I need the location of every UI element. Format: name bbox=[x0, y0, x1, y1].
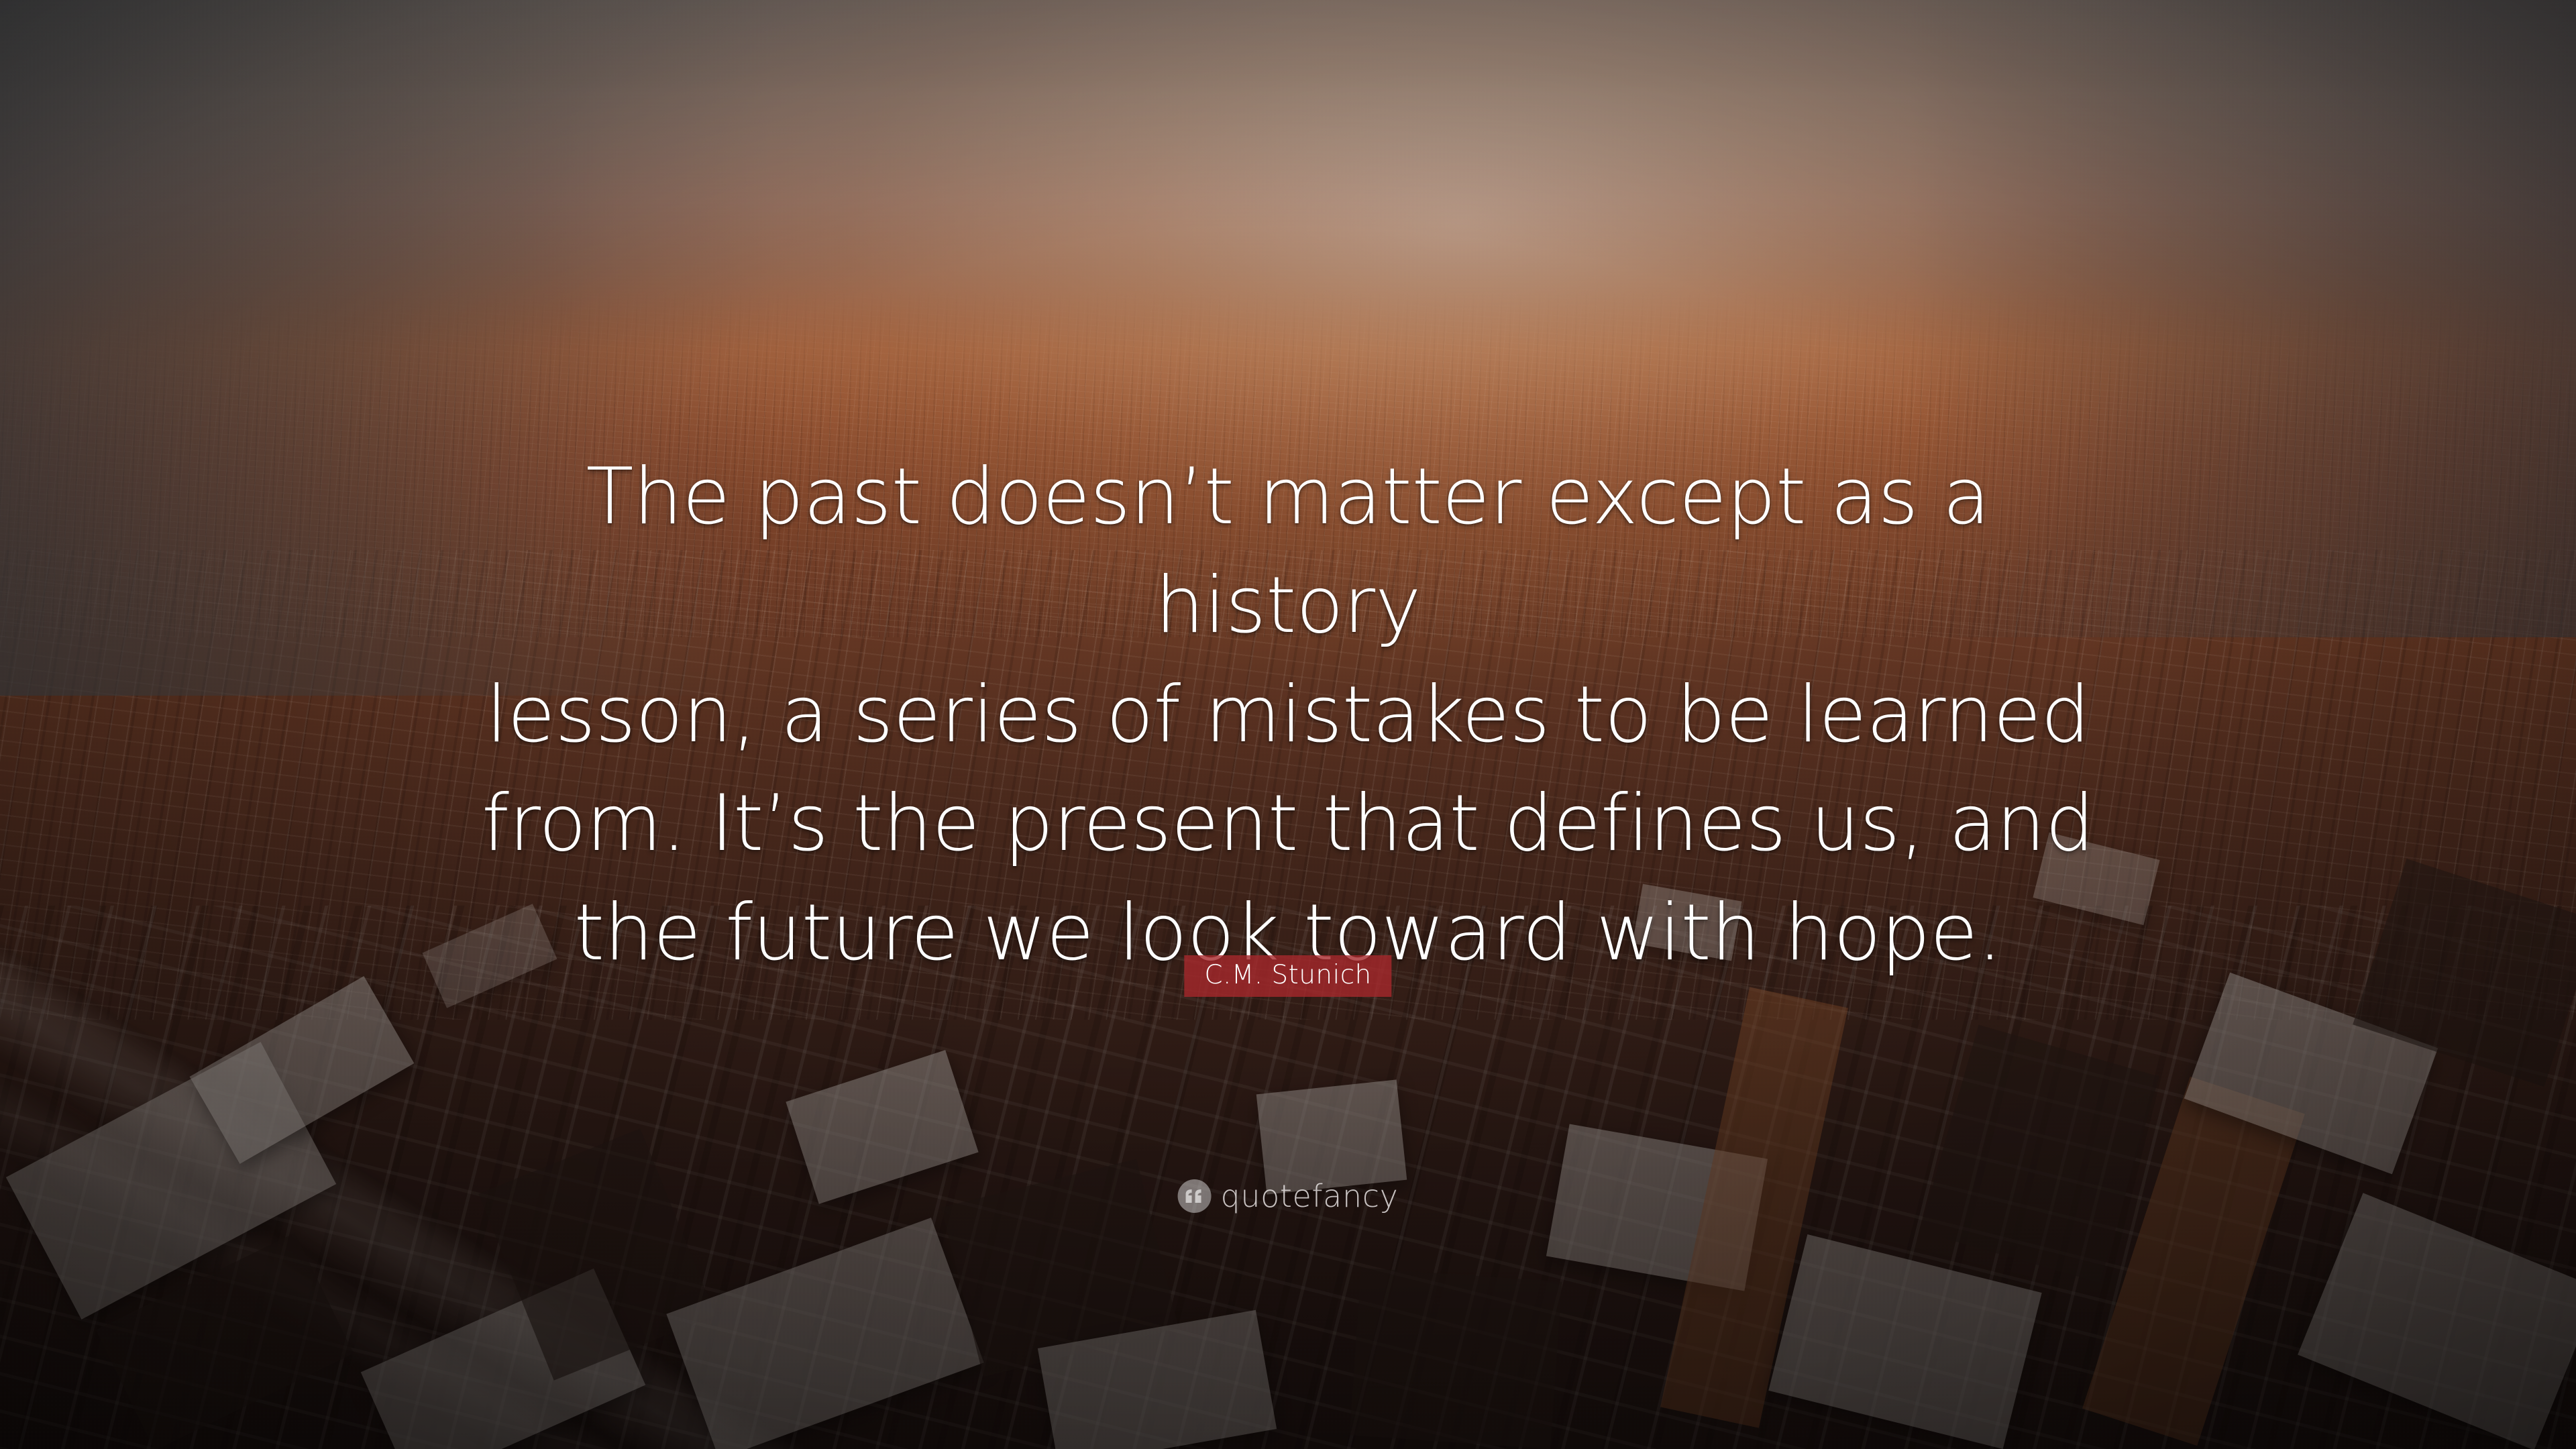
quote-mark-icon bbox=[1178, 1179, 1212, 1213]
wallpaper-canvas: The past doesn’t matter except as a hist… bbox=[0, 0, 2576, 1449]
quotefancy-watermark[interactable]: quotefancy bbox=[1178, 1179, 1399, 1213]
quote-block: The past doesn’t matter except as a hist… bbox=[463, 443, 2113, 987]
quotefancy-wordmark: quotefancy bbox=[1221, 1181, 1399, 1212]
quote-text: The past doesn’t matter except as a hist… bbox=[463, 443, 2113, 987]
overlay-content: The past doesn’t matter except as a hist… bbox=[0, 0, 2576, 1449]
author-attribution-badge: C.M. Stunich bbox=[1184, 955, 1391, 997]
